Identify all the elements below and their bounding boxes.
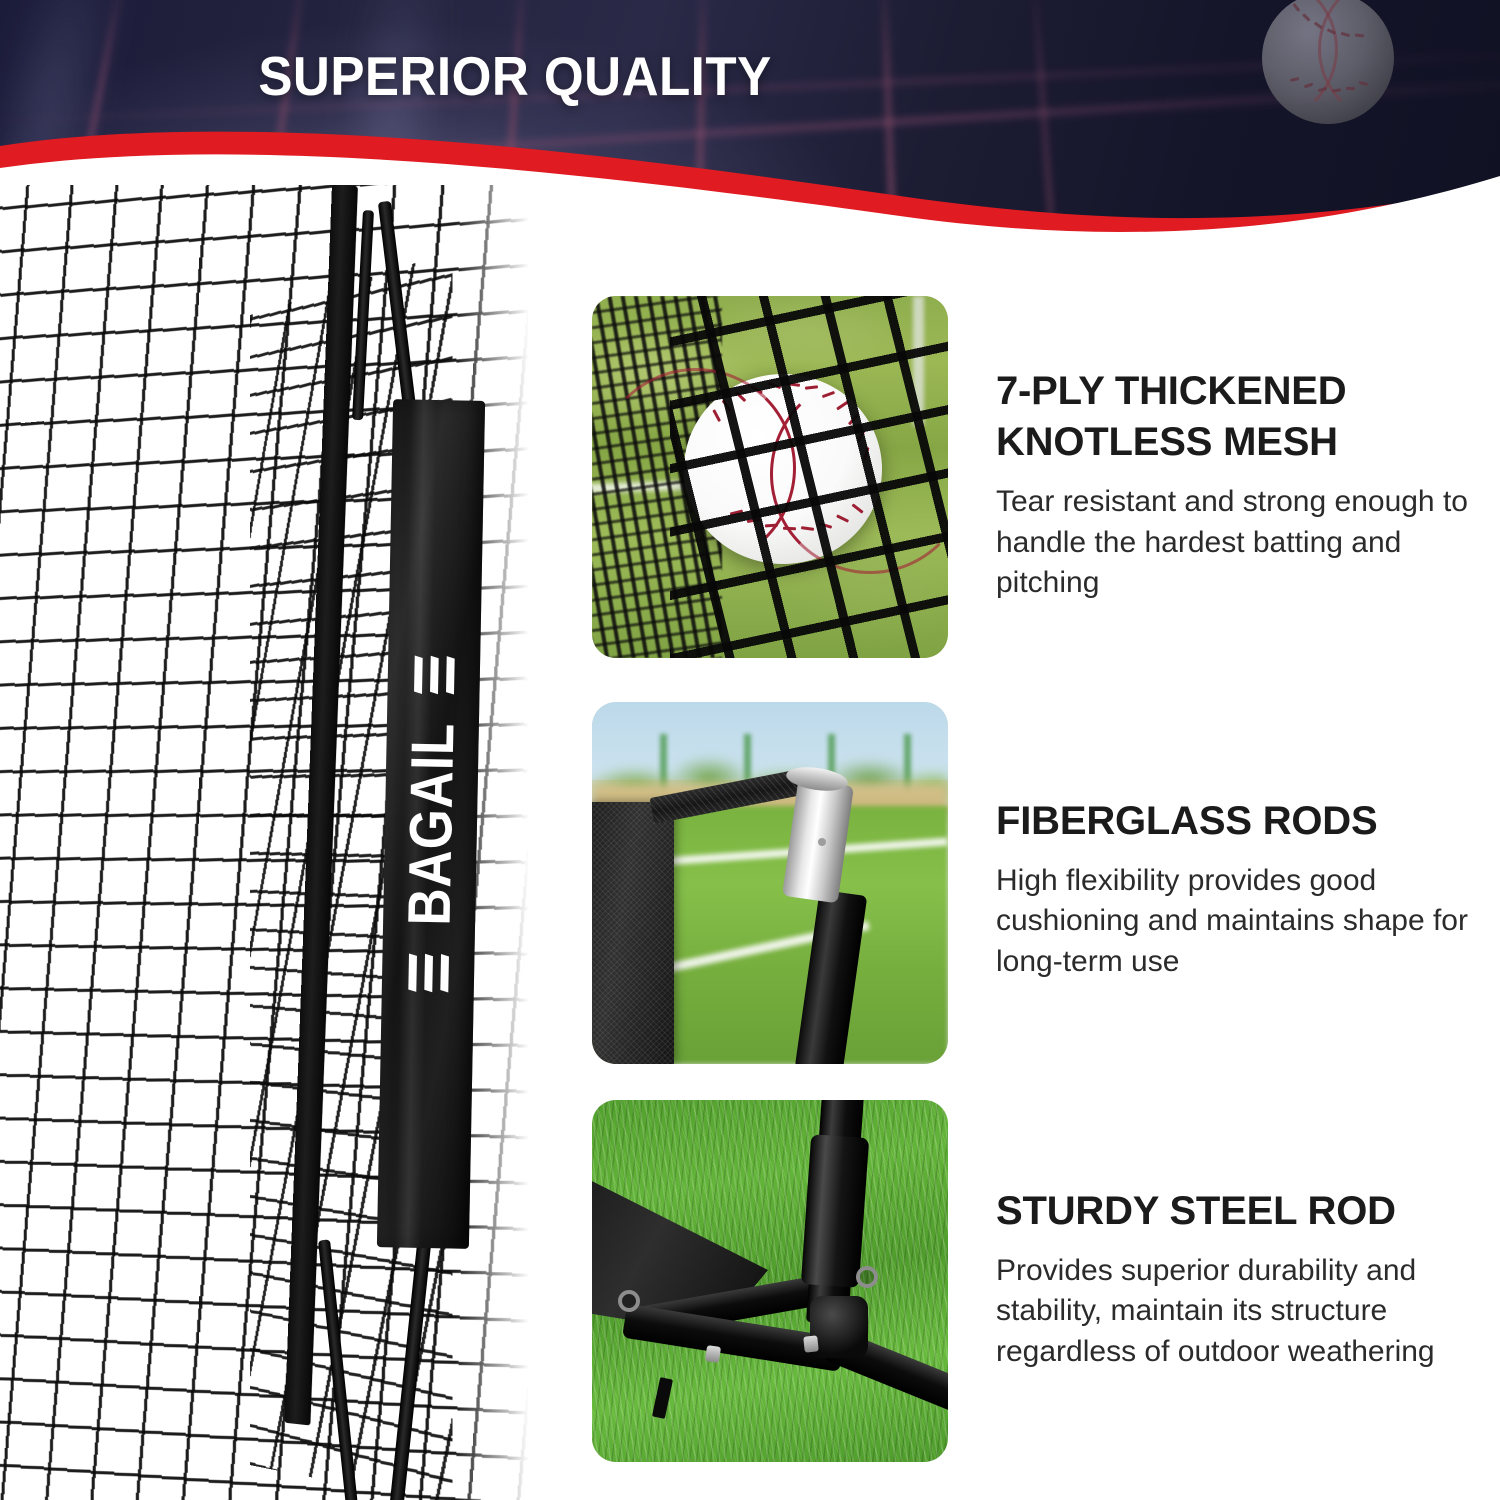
feature-photo-fiberglass-rods (592, 702, 948, 1064)
feature-description: High flexibility provides good cushionin… (996, 861, 1490, 982)
steel-sleeve (801, 1134, 869, 1288)
feature-text-steel-rod: STURDY STEEL ROD Provides superior durab… (996, 1186, 1490, 1372)
rod-screw-icon (818, 838, 826, 846)
feature-description: Tear resistant and strong enough to hand… (996, 482, 1490, 603)
feature-text-knotless-mesh: 7-PLY THICKENED KNOTLESS MESH Tear resis… (996, 366, 1490, 603)
feature-text-fiberglass-rods: FIBERGLASS RODS High flexibility provide… (996, 796, 1490, 982)
feature-photo-knotless-mesh (592, 296, 948, 658)
logo-bars-left-icon (408, 955, 449, 992)
feature-title: STURDY STEEL ROD (996, 1186, 1490, 1237)
coarse-net-texture (670, 296, 948, 658)
brand-name: BAGAIL (395, 722, 468, 926)
net-fabric-edge (592, 802, 674, 1064)
d-ring-icon (856, 1266, 878, 1288)
feature-photo-steel-rod (592, 1100, 948, 1462)
brand-logo: BAGAIL (393, 656, 468, 991)
brand-strap: BAGAIL (377, 399, 485, 1249)
feature-description: Provides superior durability and stabili… (996, 1251, 1490, 1372)
page-title: SUPERIOR QUALITY (36, 44, 994, 108)
product-infographic: SUPERIOR QUALITY BAGAIL (0, 0, 1500, 1500)
d-ring-icon (618, 1290, 640, 1312)
feature-title: 7-PLY THICKENED KNOTLESS MESH (996, 366, 1490, 468)
bolt-icon (705, 1345, 721, 1363)
bolt-icon (803, 1335, 819, 1352)
steel-hub-joint (810, 1296, 868, 1358)
logo-bars-right-icon (414, 657, 455, 694)
feature-title: FIBERGLASS RODS (996, 796, 1490, 847)
